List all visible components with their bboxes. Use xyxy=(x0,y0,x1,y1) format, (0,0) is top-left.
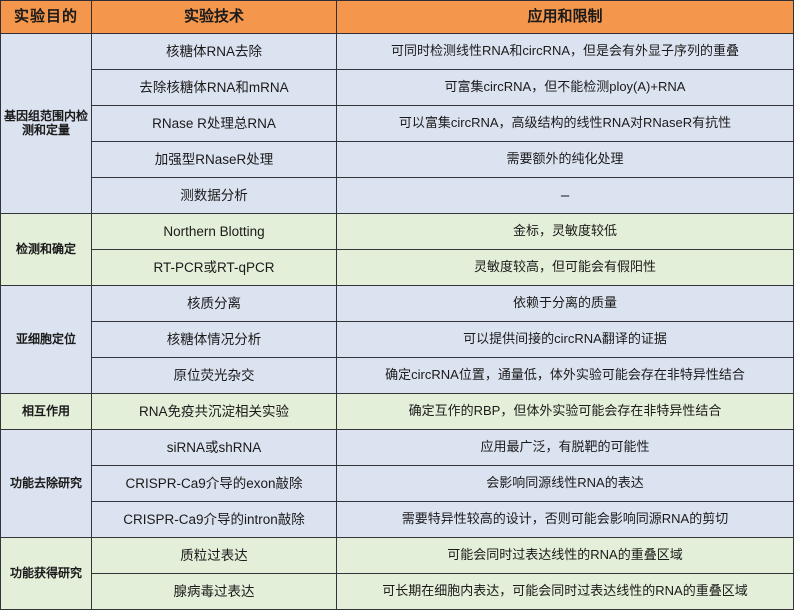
table-row: CRISPR-Ca9介导的intron敲除需要特异性较高的设计，否则可能会影响同… xyxy=(1,502,794,538)
application-cell: 需要额外的纯化处理 xyxy=(337,142,794,178)
table-header: 实验目的 实验技术 应用和限制 xyxy=(1,1,794,34)
technique-cell: 加强型RNaseR处理 xyxy=(92,142,337,178)
application-cell: 金标，灵敏度较低 xyxy=(337,214,794,250)
column-header-application: 应用和限制 xyxy=(337,1,794,34)
table-row: 腺病毒过表达可长期在细胞内表达，可能会同时过表达线性的RNA的重叠区域 xyxy=(1,574,794,610)
table-row: 功能获得研究质粒过表达可能会同时过表达线性的RNA的重叠区域 xyxy=(1,538,794,574)
table-row: 检测和确定Northern Blotting金标，灵敏度较低 xyxy=(1,214,794,250)
technique-cell: 核糖体情况分析 xyxy=(92,322,337,358)
application-cell: 可富集circRNA，但不能检测ploy(A)+RNA xyxy=(337,70,794,106)
technique-cell: 去除核糖体RNA和mRNA xyxy=(92,70,337,106)
technique-cell: 腺病毒过表达 xyxy=(92,574,337,610)
technique-cell: RNase R处理总RNA xyxy=(92,106,337,142)
purpose-cell: 亚细胞定位 xyxy=(1,286,92,394)
table-row: 相互作用RNA免疫共沉淀相关实验确定互作的RBP，但体外实验可能会存在非特异性结… xyxy=(1,394,794,430)
page-root: 实验目的 实验技术 应用和限制 基因组范围内检测和定量核糖体RNA去除可同时检测… xyxy=(0,0,800,580)
technique-cell: 核糖体RNA去除 xyxy=(92,34,337,70)
purpose-cell: 基因组范围内检测和定量 xyxy=(1,34,92,214)
application-cell: 可能会同时过表达线性的RNA的重叠区域 xyxy=(337,538,794,574)
technique-cell: RT-PCR或RT-qPCR xyxy=(92,250,337,286)
application-cell: 可以提供间接的circRNA翻译的证据 xyxy=(337,322,794,358)
technique-cell: 质粒过表达 xyxy=(92,538,337,574)
application-cell: 可同时检测线性RNA和circRNA，但是会有外显子序列的重叠 xyxy=(337,34,794,70)
application-cell: 可以富集circRNA，高级结构的线性RNA对RNaseR有抗性 xyxy=(337,106,794,142)
application-cell: 确定circRNA位置，通量低，体外实验可能会存在非特异性结合 xyxy=(337,358,794,394)
application-cell: 依赖于分离的质量 xyxy=(337,286,794,322)
table-row: RT-PCR或RT-qPCR灵敏度较高，但可能会有假阳性 xyxy=(1,250,794,286)
purpose-cell: 检测和确定 xyxy=(1,214,92,286)
header-row: 实验目的 实验技术 应用和限制 xyxy=(1,1,794,34)
application-cell: 会影响同源线性RNA的表达 xyxy=(337,466,794,502)
technique-cell: 测数据分析 xyxy=(92,178,337,214)
technique-cell: 原位荧光杂交 xyxy=(92,358,337,394)
circrna-methods-table: 实验目的 实验技术 应用和限制 基因组范围内检测和定量核糖体RNA去除可同时检测… xyxy=(0,0,794,610)
column-header-purpose: 实验目的 xyxy=(1,1,92,34)
table-row: 核糖体情况分析可以提供间接的circRNA翻译的证据 xyxy=(1,322,794,358)
table-row: 亚细胞定位核质分离依赖于分离的质量 xyxy=(1,286,794,322)
application-cell: 灵敏度较高，但可能会有假阳性 xyxy=(337,250,794,286)
table-row: 基因组范围内检测和定量核糖体RNA去除可同时检测线性RNA和circRNA，但是… xyxy=(1,34,794,70)
technique-cell: CRISPR-Ca9介导的exon敲除 xyxy=(92,466,337,502)
technique-cell: 核质分离 xyxy=(92,286,337,322)
purpose-cell: 功能获得研究 xyxy=(1,538,92,610)
technique-cell: CRISPR-Ca9介导的intron敲除 xyxy=(92,502,337,538)
table-row: 去除核糖体RNA和mRNA可富集circRNA，但不能检测ploy(A)+RNA xyxy=(1,70,794,106)
application-cell: 确定互作的RBP，但体外实验可能会存在非特异性结合 xyxy=(337,394,794,430)
table-row: CRISPR-Ca9介导的exon敲除会影响同源线性RNA的表达 xyxy=(1,466,794,502)
technique-cell: siRNA或shRNA xyxy=(92,430,337,466)
purpose-cell: 相互作用 xyxy=(1,394,92,430)
table-row: RNase R处理总RNA可以富集circRNA，高级结构的线性RNA对RNas… xyxy=(1,106,794,142)
table-row: 原位荧光杂交确定circRNA位置，通量低，体外实验可能会存在非特异性结合 xyxy=(1,358,794,394)
table-row: 功能去除研究siRNA或shRNA应用最广泛，有脱靶的可能性 xyxy=(1,430,794,466)
application-cell: 需要特异性较高的设计，否则可能会影响同源RNA的剪切 xyxy=(337,502,794,538)
technique-cell: Northern Blotting xyxy=(92,214,337,250)
column-header-technique: 实验技术 xyxy=(92,1,337,34)
table-row: 加强型RNaseR处理需要额外的纯化处理 xyxy=(1,142,794,178)
technique-cell: RNA免疫共沉淀相关实验 xyxy=(92,394,337,430)
purpose-cell: 功能去除研究 xyxy=(1,430,92,538)
application-cell: 可长期在细胞内表达，可能会同时过表达线性的RNA的重叠区域 xyxy=(337,574,794,610)
table-row: 测数据分析– xyxy=(1,178,794,214)
application-cell: 应用最广泛，有脱靶的可能性 xyxy=(337,430,794,466)
application-cell: – xyxy=(337,178,794,214)
table-body: 基因组范围内检测和定量核糖体RNA去除可同时检测线性RNA和circRNA，但是… xyxy=(1,34,794,610)
